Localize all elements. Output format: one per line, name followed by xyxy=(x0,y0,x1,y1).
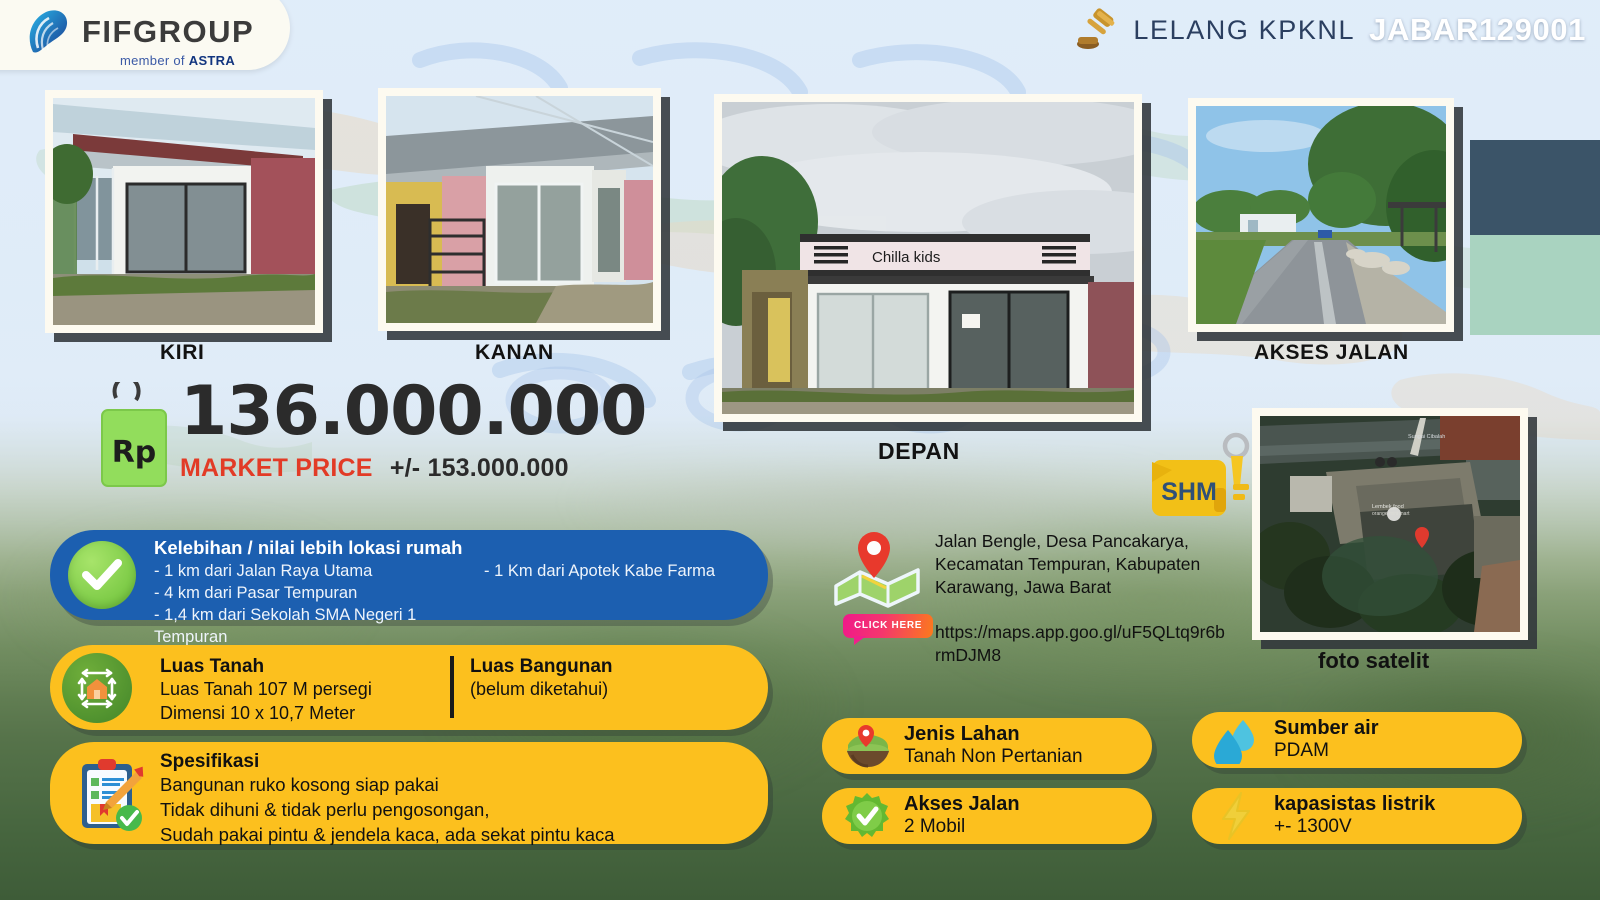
fact-card-sumber-air: Sumber air PDAM xyxy=(1192,712,1522,768)
photo-kiri-caption: KIRI xyxy=(160,341,204,365)
spesifikasi-title: Spesifikasi xyxy=(160,751,615,773)
spesifikasi-line: Bangunan ruko kosong siap pakai xyxy=(160,773,615,798)
photo-satelit-image: Lembek food orange mini mart Sungai Ciba… xyxy=(1260,416,1520,632)
auction-code: JABAR129001 xyxy=(1369,12,1586,48)
photo-depan[interactable]: Chilla kids xyxy=(714,94,1142,422)
advantages-item: - 1,4 km dari Sekolah SMA Negeri 1 Tempu… xyxy=(154,605,484,649)
market-price-value: +/- 153.000.000 xyxy=(390,454,569,482)
advantages-title: Kelebihan / nilai lebih lokasi rumah xyxy=(154,537,754,559)
market-price-label: MARKET PRICE xyxy=(180,454,373,482)
fact-value: +- 1300V xyxy=(1274,816,1435,839)
shm-label: SHM xyxy=(1161,478,1217,506)
check-circle-icon xyxy=(68,541,136,609)
key-tag-icon: SHM xyxy=(1148,432,1258,532)
address-text: Jalan Bengle, Desa Pancakarya, Kecamatan… xyxy=(935,530,1227,599)
market-price-row: MARKET PRICE +/- 153.000.000 xyxy=(180,454,647,483)
brand-tagline: member of ASTRA xyxy=(120,53,235,68)
clipboard-check-icon xyxy=(72,758,150,832)
photo-kanan[interactable] xyxy=(378,88,661,331)
decor-mint-rectangle xyxy=(1470,235,1600,335)
fact-card-listrik: kapasistas listrik +- 1300V xyxy=(1192,788,1522,844)
building-area-line: (belum diketahui) xyxy=(470,678,750,702)
photo-satelit-caption: foto satelit xyxy=(1318,648,1429,674)
fact-title: kapasistas listrik xyxy=(1274,793,1435,816)
fact-value: Tanah Non Pertanian xyxy=(904,746,1083,769)
land-area-icon xyxy=(62,653,132,723)
fact-card-jenis-lahan: Jenis Lahan Tanah Non Pertanian xyxy=(822,718,1152,774)
fact-card-akses-jalan: Akses Jalan 2 Mobil xyxy=(822,788,1152,844)
poster-canvas: FIFGROUP member of ASTRA LELANG KPKNL JA… xyxy=(0,0,1600,900)
price-currency-symbol: Rp xyxy=(112,435,157,470)
spesifikasi-line: Tidak dihuni & tidak perlu pengosongan, xyxy=(160,798,615,823)
advantages-panel: Kelebihan / nilai lebih lokasi rumah - 1… xyxy=(50,530,768,620)
price-block: Rp 136.000.000 MARKET PRICE +/- 153.000.… xyxy=(88,378,647,494)
photo-akses-jalan-image xyxy=(1196,106,1446,324)
brand-logo: FIFGROUP xyxy=(24,8,254,56)
advantages-item: - 4 km dari Pasar Tempuran xyxy=(154,583,484,605)
fact-value: PDAM xyxy=(1274,740,1378,763)
decor-slate-rectangle xyxy=(1470,140,1600,235)
photo-kanan-image xyxy=(386,96,653,323)
advantages-item: - 1 Km dari Apotek Kabe Farma xyxy=(484,561,754,583)
fact-title: Sumber air xyxy=(1274,717,1378,740)
land-area-panel: Luas Tanah Luas Tanah 107 M persegi Dime… xyxy=(50,645,768,730)
photo-kiri-image xyxy=(53,98,315,325)
auction-label: LELANG KPKNL xyxy=(1133,15,1355,46)
fact-value: 2 Mobil xyxy=(904,816,1020,839)
building-area-title: Luas Bangunan xyxy=(470,656,750,678)
address-block: Jalan Bengle, Desa Pancakarya, Kecamatan… xyxy=(935,530,1227,667)
price-tag-icon: Rp xyxy=(88,382,172,494)
brand-tagline-prefix: member of xyxy=(120,53,189,68)
click-here-badge[interactable]: CLICK HERE xyxy=(843,614,933,638)
gavel-icon xyxy=(1075,8,1119,52)
price-amount: 136.000.000 xyxy=(180,378,647,446)
auction-header: LELANG KPKNL JABAR129001 xyxy=(1075,8,1586,52)
photo-kanan-caption: KANAN xyxy=(475,341,554,365)
advantages-item: - 1 km dari Jalan Raya Utama xyxy=(154,561,484,583)
photo-depan-caption: DEPAN xyxy=(878,438,960,465)
svg-text:orange mini mart: orange mini mart xyxy=(1372,511,1410,517)
photo-satelit[interactable]: Lembek food orange mini mart Sungai Ciba… xyxy=(1252,408,1528,640)
spesifikasi-panel: Spesifikasi Bangunan ruko kosong siap pa… xyxy=(50,742,768,844)
bolt-icon xyxy=(1206,790,1268,842)
spesifikasi-line: Sudah pakai pintu & jendela kaca, ada se… xyxy=(160,823,615,848)
fact-title: Akses Jalan xyxy=(904,793,1020,816)
land-area-line: Luas Tanah 107 M persegi xyxy=(160,678,450,702)
svg-text:Lembek food: Lembek food xyxy=(1372,504,1404,510)
photo-kiri[interactable] xyxy=(45,90,323,333)
photo-akses-jalan[interactable] xyxy=(1188,98,1454,332)
photo-depan-image: Chilla kids xyxy=(722,102,1134,414)
land-type-icon xyxy=(836,720,898,772)
fifgroup-logo-icon xyxy=(24,8,70,56)
check-badge-icon xyxy=(836,790,898,842)
maps-url[interactable]: https://maps.app.goo.gl/uF5QLtq9r6brmDJM… xyxy=(935,621,1227,667)
map-pin-icon xyxy=(832,530,924,610)
fact-title: Jenis Lahan xyxy=(904,723,1083,746)
brand-name: FIFGROUP xyxy=(82,14,254,50)
svg-text:Chilla kids: Chilla kids xyxy=(872,249,940,266)
land-area-line: Dimensi 10 x 10,7 Meter xyxy=(160,702,450,726)
brand-tagline-astra: ASTRA xyxy=(189,53,235,68)
photo-akses-jalan-caption: AKSES JALAN xyxy=(1254,341,1409,365)
land-area-title: Luas Tanah xyxy=(160,656,450,678)
svg-text:Sungai Cibalah: Sungai Cibalah xyxy=(1408,434,1445,440)
water-drop-icon xyxy=(1206,714,1268,766)
